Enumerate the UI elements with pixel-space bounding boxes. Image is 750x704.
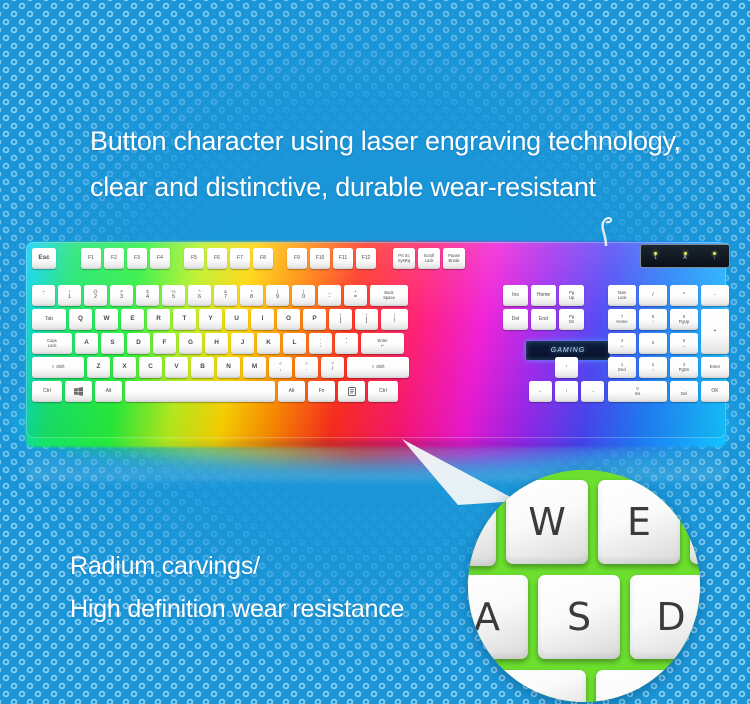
key-1[interactable]: !1 [58,285,81,306]
key-a[interactable]: A [75,333,98,354]
key-page-down[interactable]: PgDn [559,309,584,330]
led-indicator-scroll-lock: ↓ [713,252,716,261]
magnifier-key-d[interactable]: D [630,575,700,659]
caption-line-2: High definition wear resistance [70,588,500,631]
key-8[interactable]: *8 [240,285,263,306]
usb-cable-icon [593,216,619,246]
key-row-home: CapsLock A S D F G H J K L :; "' Enter↵ [32,333,407,354]
key-q[interactable]: Q [69,309,92,330]
key-6[interactable]: ^6 [188,285,211,306]
key-numpad-divide[interactable]: / [639,285,667,306]
key-ctrl-left[interactable]: Ctrl [32,381,62,402]
key-h[interactable]: H [205,333,228,354]
key-quote[interactable]: "' [335,333,358,354]
key-alt-left[interactable]: Alt [95,381,122,402]
key-row-numpad-4: 1End 2↓ 3PgDn Enter [608,357,732,378]
key-5[interactable]: %5 [162,285,185,306]
key-numpad-multiply[interactable]: * [670,285,698,306]
key-backtick[interactable]: ~` [32,285,55,306]
key-end[interactable]: End [531,309,556,330]
key-slash[interactable]: ?/ [321,357,344,378]
key-period[interactable]: >. [295,357,318,378]
key-k[interactable]: K [257,333,280,354]
key-numpad-5[interactable]: 5 [639,333,667,354]
key-print-screen[interactable]: Prt Sc SysRq [393,248,415,269]
key-numpad-3[interactable]: 3PgDn [670,357,698,378]
key-row-numpad-5: 0Ins .Del OK [608,381,732,402]
magnifier-key-partial-r [690,480,700,564]
key-shift-left[interactable]: ⇧ Shift [32,357,84,378]
key-y[interactable]: Y [199,309,222,330]
magnifier-key-partial-left [468,480,496,566]
key-s[interactable]: S [101,333,124,354]
key-f8[interactable]: F8 [253,248,273,269]
key-numpad-enter[interactable]: Enter [701,357,729,378]
key-o[interactable]: O [277,309,300,330]
key-row-number: ~` !1 @2 #3 $4 %5 ^6 &7 *8 (9 )0 _- += B… [32,285,411,306]
key-arrow-up[interactable]: ↑ [555,357,578,378]
key-i[interactable]: I [251,309,274,330]
key-minus[interactable]: _- [318,285,341,306]
key-group-nav-top: Ins Home PgUp [503,285,587,306]
key-numpad-add[interactable]: + [701,309,729,354]
key-g[interactable]: G [179,333,202,354]
key-alt-right[interactable]: Alt [278,381,305,402]
key-insert[interactable]: Ins [503,285,528,306]
key-delete[interactable]: Del [503,309,528,330]
key-z[interactable]: Z [87,357,110,378]
key-backspace[interactable]: BackSpace [370,285,408,306]
key-numpad-4[interactable]: 4← [608,333,636,354]
scroll-lock-icon: ↓ [713,256,716,261]
key-f9[interactable]: F9 [287,248,307,269]
key-tab[interactable]: Tab [32,309,66,330]
key-group-arrows: ← ↓ → [529,381,607,402]
key-w[interactable]: W [95,309,118,330]
key-l[interactable]: L [283,333,306,354]
key-fn[interactable]: Fn [308,381,335,402]
key-f5[interactable]: F5 [184,248,204,269]
key-4[interactable]: $4 [136,285,159,306]
key-m[interactable]: M [243,357,266,378]
key-f10[interactable]: F10 [310,248,330,269]
brand-logo-text: GAMING [551,347,585,354]
magnifier-key-w[interactable]: W [506,480,588,564]
key-windows[interactable] [65,381,92,402]
key-9[interactable]: (9 [266,285,289,306]
key-ctrl-right[interactable]: Ctrl [368,381,398,402]
key-u[interactable]: U [225,309,248,330]
key-enter[interactable]: Enter↵ [361,333,404,354]
key-space[interactable] [125,381,275,402]
key-esc[interactable]: Esc [32,248,56,269]
key-2[interactable]: @2 [84,285,107,306]
key-bracket-left[interactable]: {[ [329,309,352,330]
key-f1[interactable]: F1 [81,248,101,269]
key-c[interactable]: C [139,357,162,378]
key-pause-break[interactable]: Pause Break [443,248,465,269]
key-row-zxcv: ⇧ Shift Z X C V B N M <, >. ?/ ⇧ Shift [32,357,412,378]
magnifier-callout: W E A S D [468,470,700,702]
key-p[interactable]: P [303,309,326,330]
keyboard-product-photo: Esc F1 F2 F3 F4 F5 F6 F7 F8 F9 F10 F11 F… [18,232,734,447]
key-arrow-right[interactable]: → [581,381,604,402]
key-f12[interactable]: F12 [356,248,376,269]
key-f6[interactable]: F6 [207,248,227,269]
magnifier-key-e[interactable]: E [598,480,680,564]
key-row-function: Esc F1 F2 F3 F4 F5 F6 F7 F8 F9 F10 F11 F… [32,248,468,269]
key-j[interactable]: J [231,333,254,354]
key-row-modifier: Ctrl Alt Alt Fn Ctrl [32,381,401,402]
key-row-numpad-1: NumLock / * - [608,285,732,306]
led-indicator-num-lock: 1 [654,252,657,261]
magnifier-key-a[interactable]: A [468,575,528,659]
key-e[interactable]: E [121,309,144,330]
key-x[interactable]: X [113,357,136,378]
key-shift-right[interactable]: ⇧ Shift [347,357,409,378]
caps-lock-icon: A [683,256,686,261]
key-f[interactable]: F [153,333,176,354]
key-numpad-ok[interactable]: OK [701,381,729,402]
key-d[interactable]: D [127,333,150,354]
key-num-lock[interactable]: NumLock [608,285,636,306]
context-menu-icon [348,387,356,396]
headline-line-1: Button character using laser engraving t… [90,118,750,164]
led-indicator-panel: 1 A ↓ [640,244,730,268]
key-scroll-lock[interactable]: Scroll Lock [418,248,440,269]
key-numpad-6[interactable]: 6→ [670,333,698,354]
key-page-up[interactable]: PgUp [559,285,584,306]
key-comma[interactable]: <, [269,357,292,378]
key-3[interactable]: #3 [110,285,133,306]
key-7[interactable]: &7 [214,285,237,306]
key-f2[interactable]: F2 [104,248,124,269]
key-home[interactable]: Home [531,285,556,306]
key-row-qwerty: Tab Q W E R T Y U I O P {[ }] |\ [32,309,411,330]
key-f7[interactable]: F7 [230,248,250,269]
magnifier-key-partial-bottom-left [486,670,586,702]
key-t[interactable]: T [173,309,196,330]
key-f4[interactable]: F4 [150,248,170,269]
headline-block: Button character using laser engraving t… [90,118,750,210]
key-f3[interactable]: F3 [127,248,147,269]
key-f11[interactable]: F11 [333,248,353,269]
key-equals[interactable]: += [344,285,367,306]
key-numpad-2[interactable]: 2↓ [639,357,667,378]
magnifier-key-partial-bottom-right [596,670,696,702]
key-numpad-subtract[interactable]: - [701,285,729,306]
key-0[interactable]: )0 [292,285,315,306]
key-backslash[interactable]: |\ [381,309,408,330]
key-r[interactable]: R [147,309,170,330]
key-numpad-1[interactable]: 1End [608,357,636,378]
key-b[interactable]: B [191,357,214,378]
key-bracket-right[interactable]: }] [355,309,378,330]
caption-line-1: Radium carvings/ [70,545,500,588]
key-numpad-8[interactable]: 8↑ [639,309,667,330]
led-indicator-caps-lock: A [683,252,686,261]
key-n[interactable]: N [217,357,240,378]
key-numpad-9[interactable]: 9PgUp [670,309,698,330]
key-group-nav-bottom: Del End PgDn [503,309,587,330]
windows-logo-icon [74,387,83,396]
key-semicolon[interactable]: :; [309,333,332,354]
key-row-numpad-3: 4← 5 6→ [608,333,701,354]
key-caps-lock[interactable]: CapsLock [32,333,72,354]
num-lock-icon: 1 [654,256,657,261]
key-numpad-0[interactable]: 0Ins [608,381,667,402]
key-menu[interactable] [338,381,365,402]
key-arrow-down[interactable]: ↓ [555,381,578,402]
key-arrow-left[interactable]: ← [529,381,552,402]
key-v[interactable]: V [165,357,188,378]
key-arrow-up-wrap: ↑ [555,357,581,378]
headline-line-2: clear and distinctive, durable wear-resi… [90,164,750,210]
key-numpad-7[interactable]: 7Home [608,309,636,330]
magnifier-key-s[interactable]: S [538,575,620,659]
caption-block: Radium carvings/ High definition wear re… [70,545,500,631]
key-numpad-decimal[interactable]: .Del [670,381,698,402]
